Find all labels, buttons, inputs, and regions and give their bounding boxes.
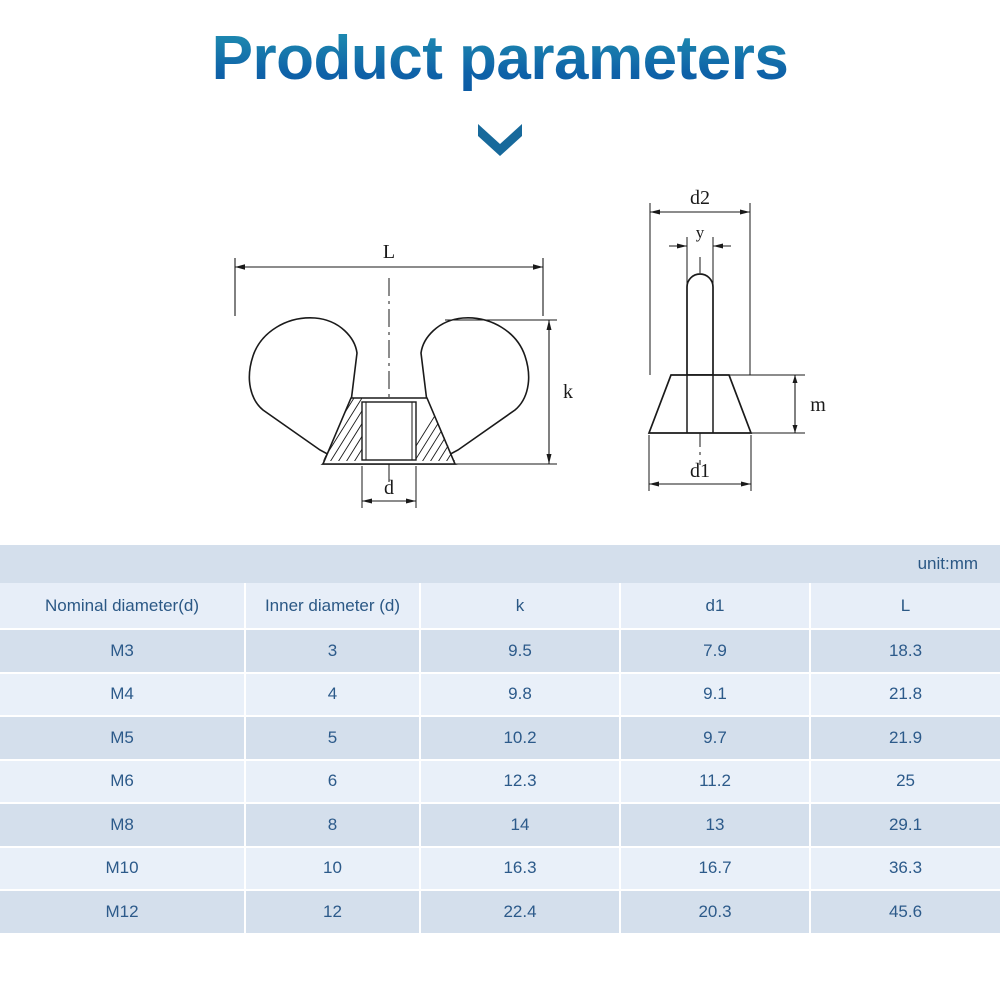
cell-d1: 9.1	[620, 673, 810, 717]
cell-nominal-diameter: M12	[0, 890, 245, 934]
column-header-inner-diameter[interactable]: Inner diameter (d)	[245, 583, 420, 629]
title-block: Product parameters	[0, 26, 1000, 91]
table-row: M6 6 12.3 11.2 25	[0, 760, 1000, 804]
label-base-height: m	[810, 394, 826, 416]
cell-l: 29.1	[810, 803, 1000, 847]
cell-nominal-diameter: M6	[0, 760, 245, 804]
table-header-row: Nominal diameter(d) Inner diameter (d) k…	[0, 583, 1000, 629]
cell-nominal-diameter: M3	[0, 629, 245, 673]
column-header-k[interactable]: k	[420, 583, 620, 629]
cell-nominal-diameter: M4	[0, 673, 245, 717]
wing-nut-front-view: L k d	[205, 220, 595, 520]
cell-l: 25	[810, 760, 1000, 804]
table-row: M10 10 16.3 16.7 36.3	[0, 847, 1000, 891]
chevron-down-icon	[470, 118, 530, 156]
cell-k: 10.2	[420, 716, 620, 760]
cell-inner-diameter: 10	[245, 847, 420, 891]
spec-table: unit:mm Nominal diameter(d) Inner diamet…	[0, 545, 1000, 935]
cell-inner-diameter: 12	[245, 890, 420, 934]
cell-k: 22.4	[420, 890, 620, 934]
unit-band-row: unit:mm	[0, 545, 1000, 583]
label-top-width: d2	[690, 187, 710, 209]
cell-l: 45.6	[810, 890, 1000, 934]
chevron-down-icon-wrap	[0, 118, 1000, 156]
label-base-width: d1	[690, 460, 710, 482]
table-row: M4 4 9.8 9.1 21.8	[0, 673, 1000, 717]
page-title: Product parameters	[208, 26, 793, 91]
cell-nominal-diameter: M8	[0, 803, 245, 847]
cell-d1: 9.7	[620, 716, 810, 760]
label-height: k	[563, 381, 573, 403]
cell-d1: 20.3	[620, 890, 810, 934]
cell-l: 36.3	[810, 847, 1000, 891]
wing-nut-side-view: d2 y m d1	[605, 175, 855, 505]
cell-k: 9.5	[420, 629, 620, 673]
column-header-nominal-diameter[interactable]: Nominal diameter(d)	[0, 583, 245, 629]
cell-k: 14	[420, 803, 620, 847]
table-body: M3 3 9.5 7.9 18.3 M4 4 9.8 9.1 21.8 M5 5…	[0, 629, 1000, 934]
cell-l: 18.3	[810, 629, 1000, 673]
cell-inner-diameter: 5	[245, 716, 420, 760]
cell-inner-diameter: 3	[245, 629, 420, 673]
cell-inner-diameter: 4	[245, 673, 420, 717]
table-row: M5 5 10.2 9.7 21.9	[0, 716, 1000, 760]
label-inner-diameter: d	[384, 477, 394, 499]
cell-d1: 11.2	[620, 760, 810, 804]
label-overall-width: L	[383, 241, 395, 263]
table-row: M3 3 9.5 7.9 18.3	[0, 629, 1000, 673]
cell-d1: 13	[620, 803, 810, 847]
cell-l: 21.8	[810, 673, 1000, 717]
label-wing-thickness: y	[696, 223, 705, 242]
cell-k: 9.8	[420, 673, 620, 717]
column-header-d1[interactable]: d1	[620, 583, 810, 629]
product-parameters-page: Product parameters	[0, 0, 1000, 1000]
cell-k: 16.3	[420, 847, 620, 891]
cell-inner-diameter: 8	[245, 803, 420, 847]
column-header-l[interactable]: L	[810, 583, 1000, 629]
cell-d1: 16.7	[620, 847, 810, 891]
technical-drawings: L k d	[0, 175, 1000, 525]
unit-label: unit:mm	[0, 545, 1000, 583]
cell-inner-diameter: 6	[245, 760, 420, 804]
cell-nominal-diameter: M5	[0, 716, 245, 760]
cell-d1: 7.9	[620, 629, 810, 673]
cell-l: 21.9	[810, 716, 1000, 760]
table-row: M12 12 22.4 20.3 45.6	[0, 890, 1000, 934]
cell-nominal-diameter: M10	[0, 847, 245, 891]
table-row: M8 8 14 13 29.1	[0, 803, 1000, 847]
cell-k: 12.3	[420, 760, 620, 804]
